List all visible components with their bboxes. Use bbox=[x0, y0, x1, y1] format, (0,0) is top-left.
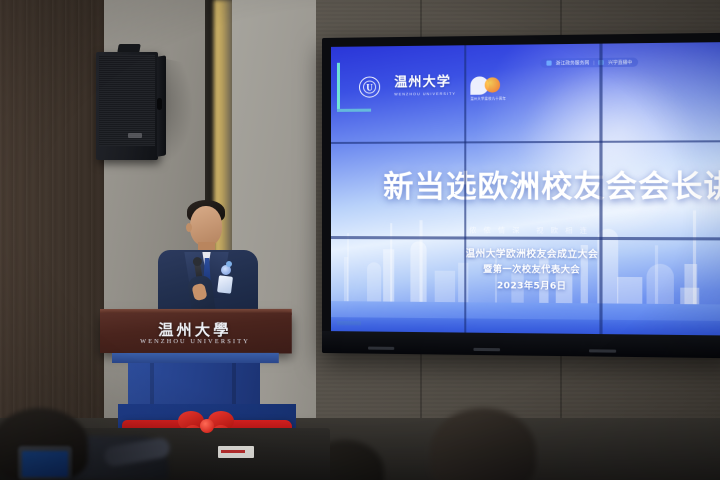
anniversary-zero-shape bbox=[485, 77, 500, 92]
smartphone-screen bbox=[22, 451, 68, 477]
slide-footer-date: 2023年5月6日 bbox=[497, 278, 566, 292]
video-wall[interactable]: 温州大学 WENZHOU UNIVERSITY 温州大学建校九十周年 浙江政务服… bbox=[322, 33, 720, 359]
presenter-ear bbox=[186, 223, 192, 232]
lectern-title-cn: 温州大學 bbox=[100, 319, 292, 341]
lectern-shelf bbox=[112, 353, 279, 363]
live-source-label: 浙江政务服务网 bbox=[556, 60, 589, 66]
table-name-card bbox=[218, 446, 254, 458]
video-wall-foot bbox=[368, 347, 394, 350]
presenter-name-badge bbox=[217, 275, 233, 294]
live-status-label: 兴学直播中 bbox=[608, 59, 632, 65]
presenter bbox=[150, 198, 266, 320]
slide-corner-accent-icon bbox=[337, 63, 340, 109]
presenter-head bbox=[190, 206, 222, 246]
anniversary-logo: 温州大学建校九十周年 bbox=[470, 76, 505, 97]
slide-footer-line-2: 暨第一次校友代表大会 bbox=[483, 262, 580, 276]
university-seal-icon bbox=[359, 76, 380, 97]
slide-footer-line-1: 温州大学欧洲校友会成立大会 bbox=[465, 246, 598, 261]
conference-hall-scene: 温州大学 WENZHOU UNIVERSITY 温州大学建校九十周年 浙江政务服… bbox=[0, 0, 720, 480]
video-wall-bezel-vertical bbox=[464, 45, 467, 332]
slide-calligraphy: 侬侬情深 视欧相连 bbox=[469, 225, 594, 236]
presenter-lapel-pin bbox=[226, 261, 232, 267]
anniversary-sublabel: 温州大学建校九十周年 bbox=[470, 95, 506, 100]
university-wordmark: 温州大学 WENZHOU UNIVERSITY bbox=[394, 76, 456, 98]
university-name-cn: 温州大学 bbox=[394, 76, 456, 91]
badge-separator: | bbox=[593, 60, 594, 65]
video-wall-display-area: 温州大学 WENZHOU UNIVERSITY 温州大学建校九十周年 浙江政务服… bbox=[331, 42, 720, 336]
speaker-port bbox=[157, 98, 162, 110]
wood-wall-panel bbox=[0, 0, 104, 430]
video-wall-bezel-vertical bbox=[599, 44, 602, 334]
speaker-grille-icon bbox=[99, 55, 155, 146]
broadcast-icon bbox=[546, 61, 551, 66]
video-wall-foot bbox=[589, 349, 616, 352]
presentation-slide: 温州大学 WENZHOU UNIVERSITY 温州大学建校九十周年 浙江政务服… bbox=[331, 42, 720, 336]
university-name-en: WENZHOU UNIVERSITY bbox=[394, 91, 456, 98]
slide-corner-accent-icon bbox=[337, 109, 371, 112]
slide-logo-row: 温州大学 WENZHOU UNIVERSITY 温州大学建校九十周年 bbox=[359, 75, 505, 97]
wall-speaker-cabinet bbox=[96, 52, 158, 160]
live-stream-badge: 浙江政务服务网 | 兴学直播中 bbox=[540, 58, 638, 68]
lectern-title-en: WENZHOU UNIVERSITY bbox=[100, 338, 292, 345]
speaker-brand-logo bbox=[128, 133, 142, 138]
lectern-front-panel: 温州大學 WENZHOU UNIVERSITY bbox=[100, 313, 292, 354]
video-wall-foot bbox=[473, 348, 500, 351]
ribbon-bow-center bbox=[200, 419, 214, 433]
